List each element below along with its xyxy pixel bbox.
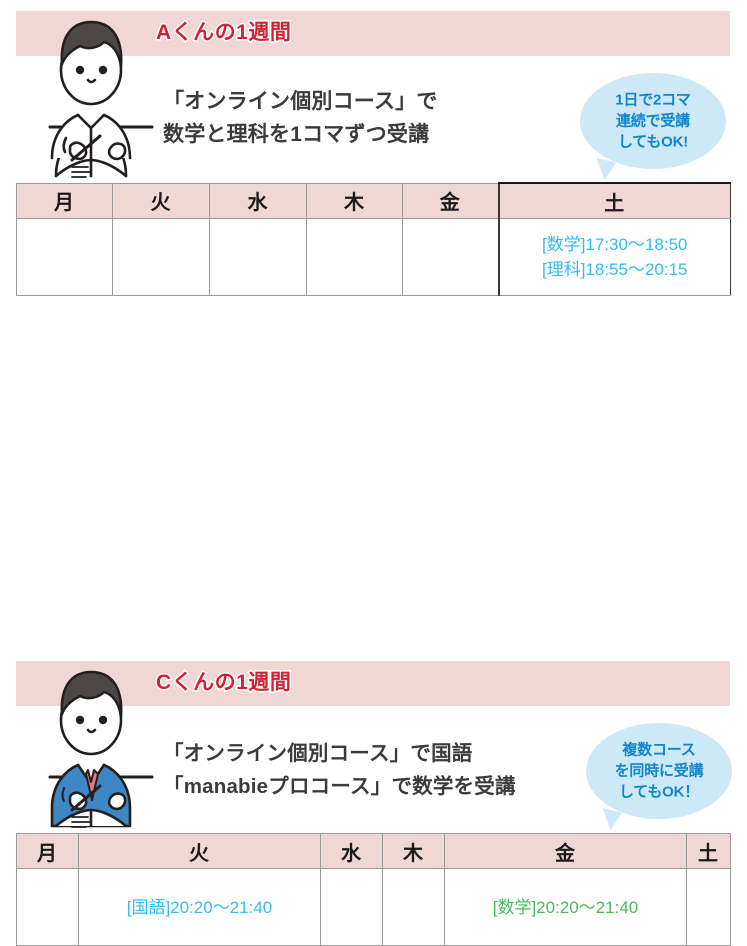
column-header-tue: 火 — [113, 183, 210, 219]
cell-tue — [113, 219, 210, 296]
cell-wed — [210, 219, 307, 296]
lesson-slot: [数学]20:20〜21:40 — [445, 895, 686, 920]
panel-c-callout-line-3: してもOK！ — [586, 782, 732, 803]
table-row: [数学]17:30〜18:50 [理科]18:55〜20:15 — [17, 219, 731, 296]
student-writing-blue-blazer-illustration — [26, 658, 156, 830]
panel-a-callout-line-1: 1日で2コマ — [580, 90, 726, 111]
column-header-mon: 月 — [17, 834, 79, 869]
table-header-row: 月 火 水 木 金 土 — [17, 834, 731, 869]
cell-wed — [321, 869, 383, 946]
lesson-time: 20:20〜21:40 — [536, 898, 638, 917]
cell-sat: [数学]17:30〜18:50 [理科]18:55〜20:15 — [499, 219, 731, 296]
column-header-mon: 月 — [17, 183, 113, 219]
column-header-fri: 金 — [445, 834, 687, 869]
lesson-subject: [理科] — [542, 260, 585, 279]
panel-a-callout-line-2: 連続で受講 — [580, 111, 726, 132]
panel-a-description-line-1: 「オンライン個別コース」で — [163, 85, 438, 118]
table-header-row: 月 火 水 木 金 土 — [17, 183, 731, 219]
lesson-subject: [国語] — [127, 898, 170, 917]
lesson-subject: [数学] — [542, 235, 585, 254]
column-header-sat: 土 — [499, 183, 731, 219]
panel-a-callout-text: 1日で2コマ 連続で受講 してもOK! — [580, 90, 726, 153]
lesson-subject: [数学] — [493, 898, 536, 917]
cell-fri: [数学]20:20〜21:40 — [445, 869, 687, 946]
column-header-thu: 木 — [383, 834, 445, 869]
panel-c-description-line-1: 「オンライン個別コース」で国語 — [163, 737, 516, 770]
lesson-slot: [理科]18:55〜20:15 — [500, 257, 731, 282]
cell-tue: [国語]20:20〜21:40 — [79, 869, 321, 946]
cell-fri — [403, 219, 499, 296]
column-header-thu: 木 — [307, 183, 403, 219]
lesson-slot: [国語]20:20〜21:40 — [79, 895, 320, 920]
lesson-slot: [数学]17:30〜18:50 — [500, 232, 731, 257]
lesson-time: 18:55〜20:15 — [585, 260, 687, 279]
panel-a-callout-bubble: 1日で2コマ 連続で受講 してもOK! — [580, 73, 726, 169]
schedule-panel-c: Cくんの1週間 「オンライン個別コース」で国語 「manabieプロコース」で数… — [0, 325, 747, 632]
schedule-panel-a: Aくんの1週間 「オンライン個別コース」で 数学と理科を1コマずつ受講 — [0, 0, 747, 310]
column-header-wed: 水 — [210, 183, 307, 219]
panel-c-description: 「オンライン個別コース」で国語 「manabieプロコース」で数学を受講 — [163, 737, 516, 803]
student-writing-white-shirt-illustration — [26, 8, 156, 180]
panel-c-description-line-2: 「manabieプロコース」で数学を受講 — [163, 770, 516, 803]
column-header-fri: 金 — [403, 183, 499, 219]
panel-a-description: 「オンライン個別コース」で 数学と理科を1コマずつ受講 — [163, 85, 438, 151]
lesson-time: 20:20〜21:40 — [170, 898, 272, 917]
bubble-tail-icon — [592, 158, 616, 182]
bubble-tail-icon — [598, 808, 622, 832]
cell-thu — [307, 219, 403, 296]
panel-a-title: Aくんの1週間 — [156, 16, 291, 46]
cell-mon — [17, 219, 113, 296]
lesson-time: 17:30〜18:50 — [585, 235, 687, 254]
cell-mon — [17, 869, 79, 946]
panel-c-callout-line-2: を同時に受講 — [586, 761, 732, 782]
panel-c-callout-text: 複数コース を同時に受講 してもOK！ — [586, 740, 732, 803]
cell-sat — [687, 869, 731, 946]
panel-c-schedule-table: 月 火 水 木 金 土 [国語]20:20〜21:40 — [16, 833, 731, 946]
panel-a-description-line-2: 数学と理科を1コマずつ受講 — [163, 118, 438, 151]
panel-a-callout-line-3: してもOK! — [580, 132, 726, 153]
table-row: [国語]20:20〜21:40 [数学]20:20〜21:40 — [17, 869, 731, 946]
cell-thu — [383, 869, 445, 946]
panel-a-schedule-table: 月 火 水 木 金 土 [数学]17:30〜18:50 — [16, 182, 731, 296]
column-header-sat: 土 — [687, 834, 731, 869]
panel-c-title: Cくんの1週間 — [156, 666, 291, 696]
column-header-tue: 火 — [79, 834, 321, 869]
panel-c-callout-line-1: 複数コース — [586, 740, 732, 761]
column-header-wed: 水 — [321, 834, 383, 869]
panel-c-callout-bubble: 複数コース を同時に受講 してもOK！ — [586, 723, 732, 819]
